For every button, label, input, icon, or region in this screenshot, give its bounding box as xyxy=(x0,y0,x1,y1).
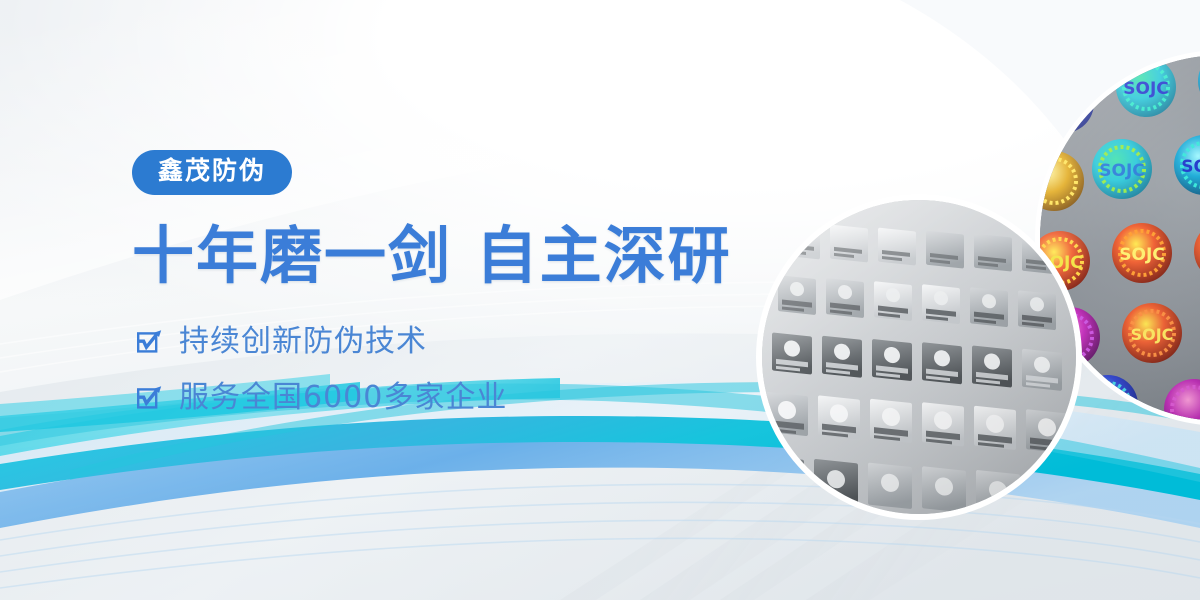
promo-banner: SOJC SOJC SOJC SOJC xyxy=(0,0,1200,600)
silver-label-grid-photo xyxy=(762,200,1076,514)
feature-label: 服务全国6000多家企业 xyxy=(179,380,507,416)
checkbox-check-icon xyxy=(136,329,162,355)
list-item: 持续创新防伪技术 xyxy=(136,324,772,360)
headline-title: 十年磨一剑 自主深研 xyxy=(132,223,772,290)
list-item: 服务全国6000多家企业 xyxy=(136,380,772,416)
banner-content: 鑫茂防伪 十年磨一剑 自主深研 持续创新防伪技术 服务全国6000多家企业 xyxy=(132,150,772,436)
feature-list: 持续创新防伪技术 服务全国6000多家企业 xyxy=(136,324,772,416)
brand-badge: 鑫茂防伪 xyxy=(132,150,292,195)
checkbox-check-icon xyxy=(136,385,162,411)
feature-label: 持续创新防伪技术 xyxy=(179,324,427,360)
